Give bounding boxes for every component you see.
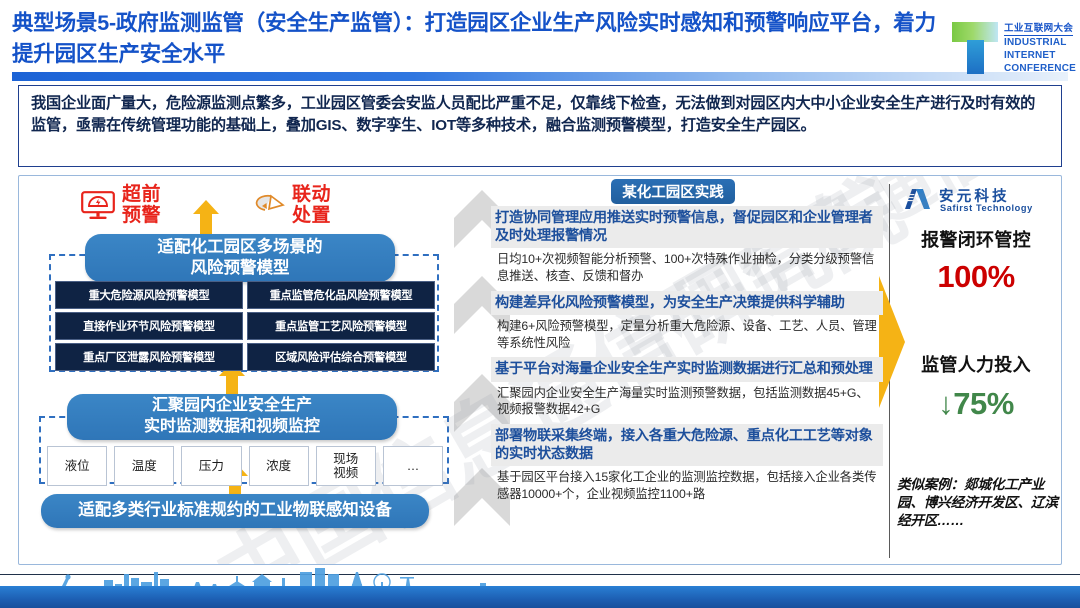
layer-title-risk-model-line2: 风险预警模型 <box>191 259 290 277</box>
model-cell[interactable]: 区域风险评估综合预警模型 <box>247 343 435 371</box>
kpi-value: ↓75% <box>889 386 1062 422</box>
kpi-value: 100% <box>889 259 1062 295</box>
sensor-tag[interactable]: 压力 <box>181 446 241 486</box>
practice-item: 构建差异化风险预警模型，为安全生产决策提供科学辅助 构建6+风险预警模型，定量分… <box>491 291 883 356</box>
architecture-diagram: 超前 预警 联动 处置 <box>19 176 459 565</box>
practice-item-body: 构建6+风险预警模型，定量分析重大危险源、设备、工艺、人员、管理等系统性风险 <box>491 315 883 355</box>
practice-panel: 某化工园区实践 打造协同管理应用推送实时预警信息，督促园区和企业管理者及时处理报… <box>459 176 889 565</box>
sensor-tag[interactable]: 温度 <box>114 446 174 486</box>
badge-coordinated-response-label: 联动 处置 <box>292 185 331 226</box>
footer-skyline-decoration <box>0 564 1080 608</box>
kpi-label: 监管人力投入 <box>889 351 1062 377</box>
practice-item: 部署物联采集终端，接入各重大危险源、重点化工工艺等对象的实时状态数据 基于园区平… <box>491 424 883 507</box>
monitor-alert-icon <box>81 191 115 221</box>
loop-arrow-icon <box>249 192 285 220</box>
practice-item-list: 打造协同管理应用推送实时预警信息，督促园区和企业管理者及时处理报警情况 日均10… <box>491 206 883 509</box>
similar-cases-text: 类似案例：郯城化工产业园、博兴经济开发区、辽滨经开区…… <box>897 476 1062 531</box>
layer-title-data-line1: 汇聚园内企业安全生产 <box>152 397 312 414</box>
sensor-tag[interactable]: … <box>383 446 443 486</box>
conference-logo-en-2: INTERNET <box>1004 50 1076 62</box>
badge-coordinated-response: 联动 处置 <box>249 185 331 226</box>
vendor-logo-en: Safirst Technology <box>940 203 1033 213</box>
sensor-tag[interactable]: 浓度 <box>249 446 309 486</box>
practice-item-body: 汇聚园内企业安全生产海量实时监测预警数据，包括监测数据45+G、视频报警数据42… <box>491 382 883 422</box>
practice-item-body: 日均10+次视频智能分析预警、100+次特殊作业抽检，分类分级预警信息推送、核查… <box>491 248 883 288</box>
layer-title-iot-devices: 适配多类行业标准规约的工业物联感知设备 <box>41 494 429 528</box>
intro-text: 我国企业面广量大，危险源监测点繁多，工业园区管委会安监人员配比严重不足，仅靠线下… <box>31 93 1049 137</box>
conference-logo-cn: 工业互联网大会 <box>1004 20 1073 36</box>
conference-logo-mark-icon <box>952 22 998 74</box>
practice-item-head: 部署物联采集终端，接入各重大危险源、重点化工工艺等对象的实时状态数据 <box>491 424 883 466</box>
practice-item: 基于平台对海量企业安全生产实时监测数据进行汇总和预处理 汇聚园内企业安全生产海量… <box>491 357 883 422</box>
practice-item-body: 基于园区平台接入15家化工企业的监测监控数据，包括接入企业各类传感器10000+… <box>491 466 883 506</box>
intro-callout-box: 我国企业面广量大，危险源监测点繁多，工业园区管委会安监人员配比严重不足，仅靠线下… <box>18 85 1062 167</box>
layer-title-risk-model: 适配化工园区多场景的 风险预警模型 <box>85 234 395 282</box>
model-grid: 重大危险源风险预警模型 重点监管危化品风险预警模型 直接作业环节风险预警模型 重… <box>55 281 435 371</box>
layer-title-risk-model-line1: 适配化工园区多场景的 <box>158 238 323 256</box>
slide-root: 典型场景5-政府监测监管（安全生产监管）：打造园区企业生产风险实时感知和预警响应… <box>0 0 1080 608</box>
page-title: 典型场景5-政府监测监管（安全生产监管）：打造园区企业生产风险实时感知和预警响应… <box>12 8 952 69</box>
title-divider-bar <box>12 72 1068 81</box>
badge-advance-warning: 超前 预警 <box>81 185 161 226</box>
main-content-card: 中国信息通信研究院 中国信息通信研究院 <box>18 175 1062 565</box>
sensor-tag[interactable]: 现场 视频 <box>316 446 376 486</box>
vendor-logo-mark-icon <box>903 187 933 211</box>
model-cell[interactable]: 重点监管工艺风险预警模型 <box>247 312 435 340</box>
results-panel: 安元科技 Safirst Technology 报警闭环管控 100% 监管人力… <box>889 176 1062 565</box>
model-cell[interactable]: 重点监管危化品风险预警模型 <box>247 281 435 309</box>
model-cell[interactable]: 重点厂区泄露风险预警模型 <box>55 343 243 371</box>
model-cell[interactable]: 重大危险源风险预警模型 <box>55 281 243 309</box>
page-title-text: 典型场景5-政府监测监管（安全生产监管）：打造园区企业生产风险实时感知和预警响应… <box>12 8 952 69</box>
practice-item-head: 构建差异化风险预警模型，为安全生产决策提供科学辅助 <box>491 291 883 315</box>
flow-arrow-up-1 <box>193 200 219 234</box>
sensor-tag[interactable]: 液位 <box>47 446 107 486</box>
conference-logo-en-1: INDUSTRIAL <box>1004 37 1076 49</box>
kpi-supervision-manpower: 监管人力投入 ↓75% <box>889 351 1062 422</box>
kpi-alarm-closed-loop: 报警闭环管控 100% <box>889 226 1062 295</box>
badge-advance-warning-label: 超前 预警 <box>122 185 161 226</box>
layer-title-data-collection: 汇聚园内企业安全生产 实时监测数据和视频监控 <box>67 394 397 440</box>
footer-water-band <box>0 586 1080 608</box>
sensor-tag-row: 液位 温度 压力 浓度 现场 视频 … <box>47 446 443 486</box>
practice-badge: 某化工园区实践 <box>611 179 735 204</box>
badge-row: 超前 预警 联动 处置 <box>81 182 381 238</box>
conference-logo: 工业互联网大会 INDUSTRIAL INTERNET CONFERENCE <box>952 16 1076 78</box>
layer-title-data-line2: 实时监测数据和视频监控 <box>144 418 320 435</box>
practice-item: 打造协同管理应用推送实时预警信息，督促园区和企业管理者及时处理报警情况 日均10… <box>491 206 883 289</box>
layer-title-iot-devices-label: 适配多类行业标准规约的工业物联感知设备 <box>78 500 392 521</box>
model-cell[interactable]: 直接作业环节风险预警模型 <box>55 312 243 340</box>
vendor-logo: 安元科技 Safirst Technology <box>903 184 1053 218</box>
kpi-label: 报警闭环管控 <box>889 226 1062 252</box>
practice-item-head: 基于平台对海量企业安全生产实时监测数据进行汇总和预处理 <box>491 357 883 381</box>
conference-logo-en-3: CONFERENCE <box>1004 63 1076 75</box>
practice-item-head: 打造协同管理应用推送实时预警信息，督促园区和企业管理者及时处理报警情况 <box>491 206 883 248</box>
